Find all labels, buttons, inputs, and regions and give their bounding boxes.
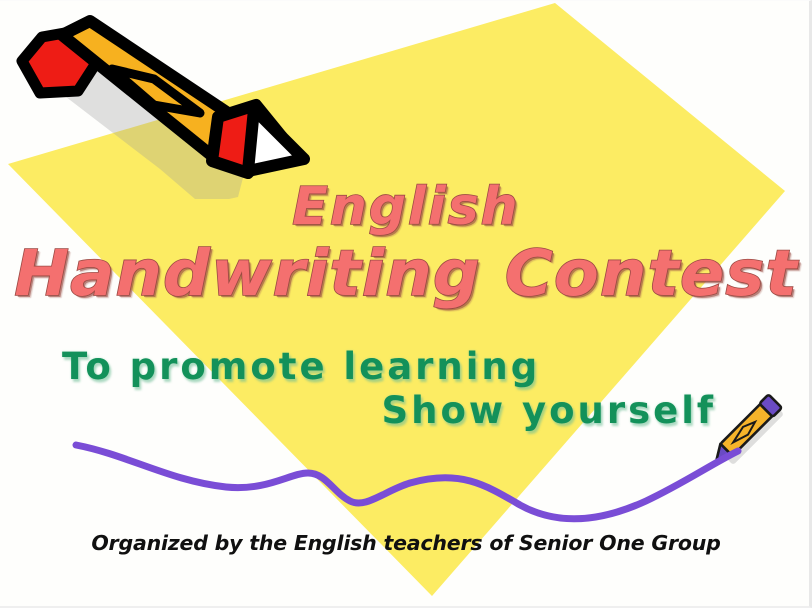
organizer-credit: Organized by the English teachers of Sen… — [91, 531, 720, 555]
page-title: English Handwriting Contest — [0, 177, 812, 311]
poster-canvas: English Handwriting Contest To promote l… — [0, 0, 812, 608]
slogan-block: To promote learning Show yourself — [0, 345, 812, 433]
slogan-line-show-yourself: Show yourself — [0, 389, 812, 433]
wavy-line — [50, 421, 780, 531]
pencil-point — [248, 109, 304, 171]
slogan-line-promote-learning: To promote learning — [0, 345, 812, 389]
title-line-handwriting-contest: Handwriting Contest — [0, 237, 812, 311]
title-line-english: English — [0, 177, 812, 237]
credit-block: Organized by the English teachers of Sen… — [0, 531, 812, 555]
wavy-line-path — [76, 445, 738, 519]
pencil-icon — [4, 9, 384, 199]
